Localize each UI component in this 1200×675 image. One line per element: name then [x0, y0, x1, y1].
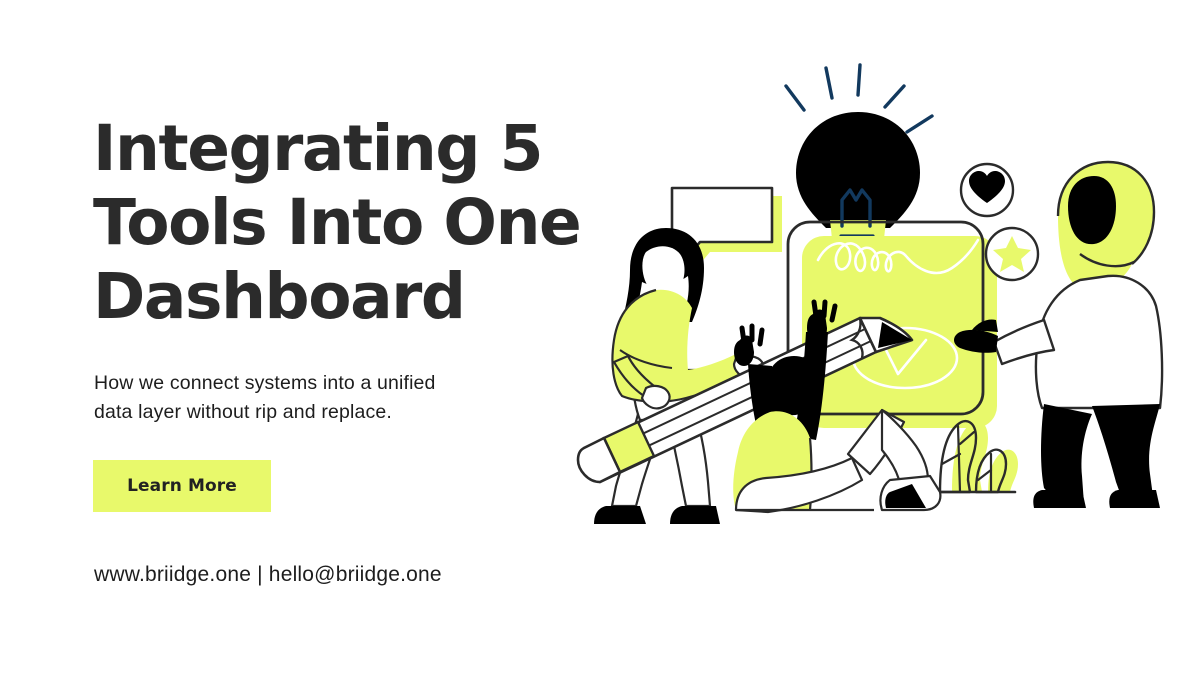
subtitle-text: How we connect systems into a unified da…: [94, 369, 554, 427]
hero-illustration: [560, 40, 1180, 550]
footer-contact: www.briidge.one | hello@briidge.one: [94, 563, 442, 587]
star-badge: [986, 228, 1038, 280]
promo-banner: Integrating 5 Tools Into One Dashboard H…: [0, 0, 1200, 675]
learn-more-label: Learn More: [127, 476, 237, 496]
text-column: Integrating 5 Tools Into One Dashboard H…: [93, 0, 593, 675]
heart-badge: [961, 164, 1013, 216]
page-title: Integrating 5 Tools Into One Dashboard: [93, 112, 593, 334]
potted-plant: [935, 421, 1018, 492]
learn-more-button[interactable]: Learn More: [93, 460, 271, 512]
